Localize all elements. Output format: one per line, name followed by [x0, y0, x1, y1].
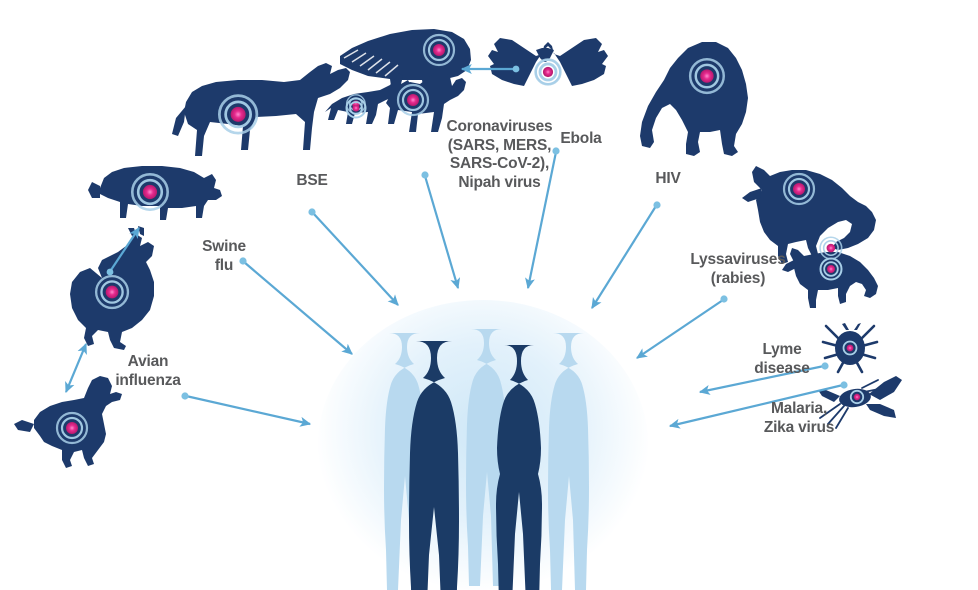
arrow-avian-to-humans — [181, 392, 310, 424]
human-figure-male — [409, 341, 459, 590]
label-malaria-zika: Malaria, Zika virus — [748, 400, 850, 437]
animal-chicken — [70, 226, 154, 350]
arrow-hiv-to-humans — [592, 201, 661, 308]
animal-bat — [488, 38, 608, 86]
label-swine-flu: Swine flu — [190, 238, 258, 275]
label-hiv: HIV — [645, 170, 691, 189]
label-bse: BSE — [282, 172, 342, 191]
diagram-graphics: .an{fill:#1d3a6b} .ar{stroke:#5ba8d4;str… — [0, 0, 978, 550]
animal-pig — [88, 166, 222, 220]
zoonotic-transmission-diagram: .an{fill:#1d3a6b} .ar{stroke:#5ba8d4;str… — [0, 0, 978, 550]
animal-fox — [742, 166, 876, 264]
animal-chimpanzee — [640, 42, 748, 156]
arrow-duck-to-chicken — [66, 344, 86, 392]
arrow-bse-to-humans — [308, 208, 398, 305]
human-figure-female — [496, 345, 542, 590]
label-lyme-disease: Lyme disease — [742, 341, 822, 378]
animal-cow — [172, 63, 350, 156]
label-avian-influenza: Avian influenza — [100, 353, 196, 390]
label-ebola: Ebola — [548, 130, 614, 149]
label-lyssaviruses: Lyssaviruses (rabies) — [678, 251, 798, 288]
arrow-rabies-to-humans — [637, 295, 728, 358]
label-coronaviruses: Coronaviruses (SARS, MERS, SARS-CoV-2), … — [432, 118, 567, 192]
animal-tick — [823, 323, 877, 372]
